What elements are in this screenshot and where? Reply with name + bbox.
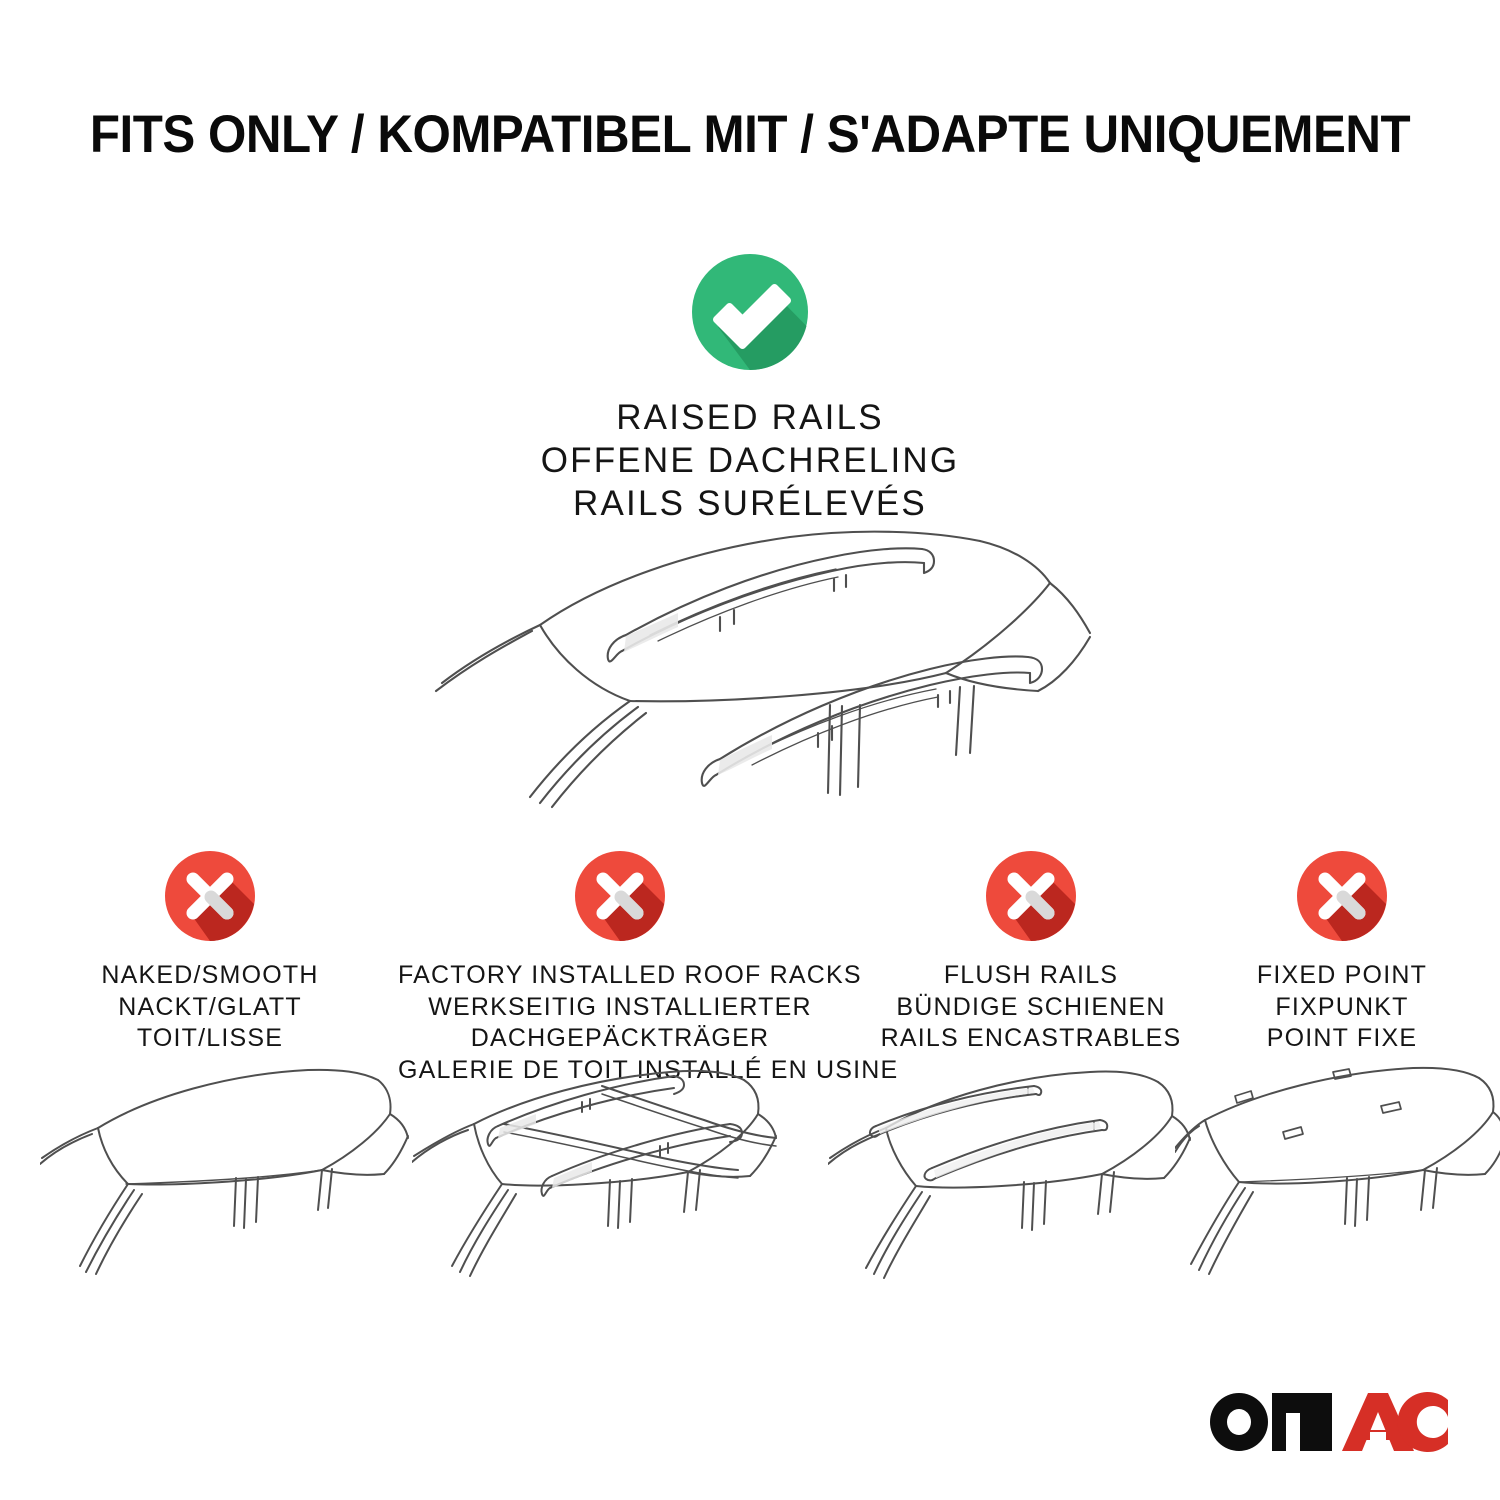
incompatible-label-de: NACKT/GLATT: [35, 992, 385, 1024]
omac-logo: [1208, 1386, 1448, 1452]
incompatible-label-en: FLUSH RAILS: [845, 960, 1217, 992]
x-circle-icon: [398, 848, 842, 944]
incompatible-label-en: FACTORY INSTALLED ROOF RACKS: [398, 960, 842, 992]
incompatible-label-fr: RAILS ENCASTRABLES: [845, 1023, 1217, 1055]
car-roof-raised-rails-illustration: [390, 505, 1110, 825]
incompatible-item-naked-smooth: NAKED/SMOOTH NACKT/GLATT TOIT/LISSE: [35, 848, 385, 1055]
x-circle-icon: [845, 848, 1217, 944]
car-roof-fixed-point-illustration: [1175, 1058, 1500, 1293]
logo-letter-o: [1210, 1393, 1268, 1451]
incompatible-label-fr: TOIT/LISSE: [35, 1023, 385, 1055]
incompatible-item-fixed-point: FIXED POINT FIXPUNKT POINT FIXE: [1222, 848, 1462, 1055]
logo-letter-m: [1272, 1393, 1332, 1451]
car-roof-factory-roof-racks-illustration: [412, 1058, 812, 1293]
incompatible-labels: FLUSH RAILS BÜNDIGE SCHIENEN RAILS ENCAS…: [845, 960, 1217, 1055]
compatible-section: RAISED RAILS OFFENE DACHRELING RAILS SUR…: [0, 250, 1500, 525]
incompatible-label-en: NAKED/SMOOTH: [35, 960, 385, 992]
car-roof-flush-rails-illustration: [828, 1058, 1213, 1293]
incompatible-label-de: BÜNDIGE SCHIENEN: [845, 992, 1217, 1024]
incompatible-label-en: FIXED POINT: [1222, 960, 1462, 992]
incompatible-label-de-1: WERKSEITIG INSTALLIERTER: [398, 992, 842, 1024]
incompatible-label-de-2: DACHGEPÄCKTRÄGER: [398, 1023, 842, 1055]
page-title: FITS ONLY / KOMPATIBEL MIT / S'ADAPTE UN…: [53, 104, 1448, 165]
incompatible-item-factory-roof-racks: FACTORY INSTALLED ROOF RACKS WERKSEITIG …: [398, 848, 842, 1086]
incompatible-labels: NAKED/SMOOTH NACKT/GLATT TOIT/LISSE: [35, 960, 385, 1055]
compatible-label-en: RAISED RAILS: [0, 396, 1500, 439]
x-circle-icon: [35, 848, 385, 944]
x-circle-icon: [1222, 848, 1462, 944]
incompatible-labels: FIXED POINT FIXPUNKT POINT FIXE: [1222, 960, 1462, 1055]
car-roof-naked-smooth-illustration: [40, 1058, 410, 1293]
compatible-label-de: OFFENE DACHRELING: [0, 439, 1500, 482]
incompatible-item-flush-rails: FLUSH RAILS BÜNDIGE SCHIENEN RAILS ENCAS…: [845, 848, 1217, 1055]
incompatible-label-fr: POINT FIXE: [1222, 1023, 1462, 1055]
check-circle-icon: [0, 250, 1500, 374]
incompatible-label-de: FIXPUNKT: [1222, 992, 1462, 1024]
